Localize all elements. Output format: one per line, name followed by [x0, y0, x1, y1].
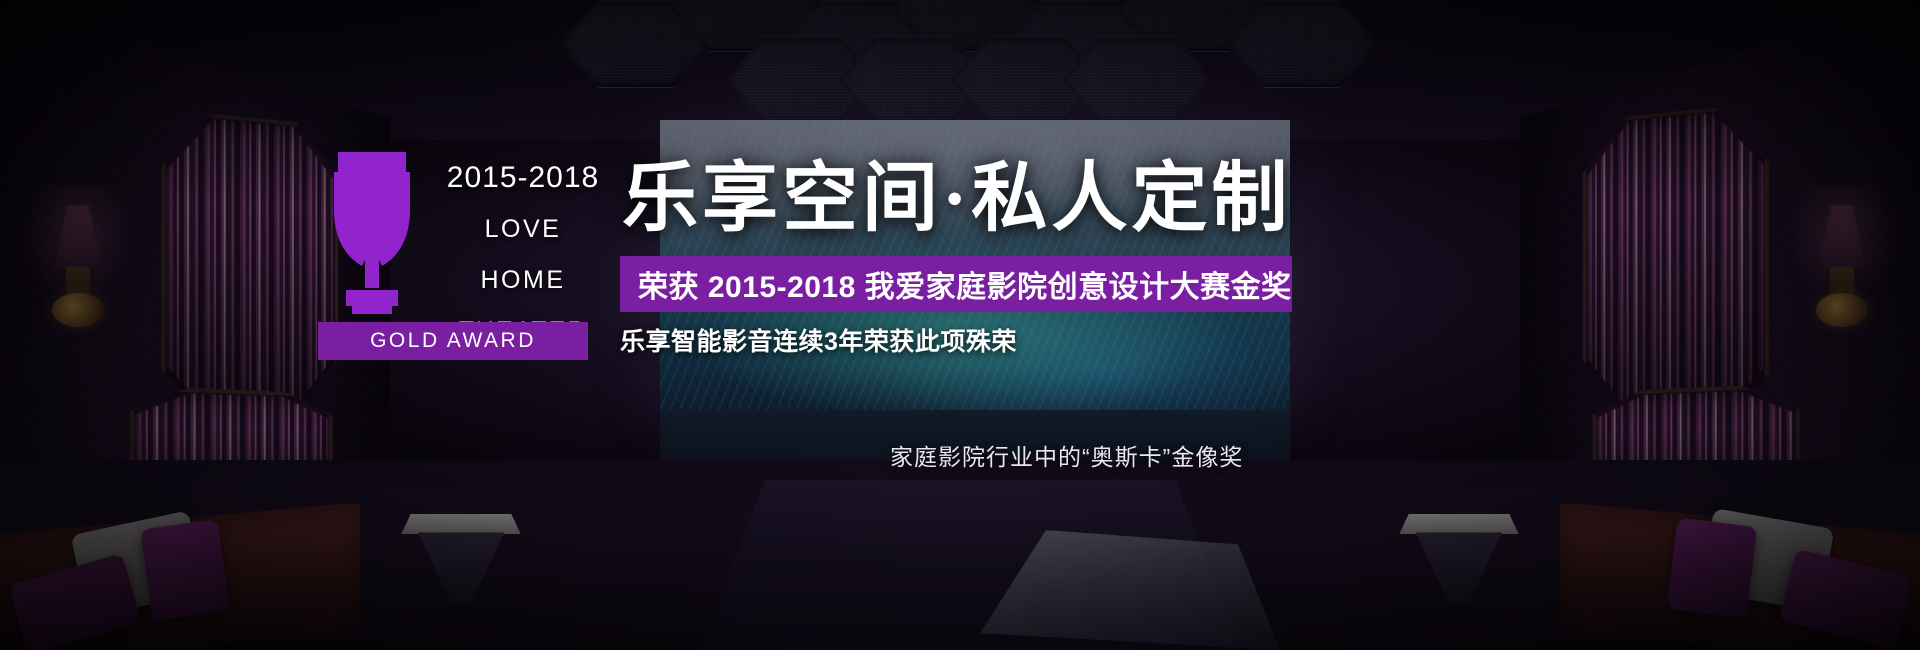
- award-banner-label: 荣获 2015-2018 我爱家庭影院创意设计大赛金奖: [620, 262, 1292, 306]
- award-text-block: 2015-2018 LOVE HOME THEATER: [443, 163, 603, 344]
- subtitle-text: 乐享智能影音连续3年荣获此项殊荣: [620, 322, 1017, 358]
- banner-content: 2015-2018 LOVE HOME THEATER GOLD AWARD 乐…: [0, 0, 1920, 650]
- award-banner-bar: 荣获 2015-2018 我爱家庭影院创意设计大赛金奖: [620, 256, 1292, 312]
- award-line-love: LOVE: [443, 217, 603, 242]
- gold-award-badge: GOLD AWARD: [318, 322, 588, 360]
- page-title: 乐享空间·私人定制: [622, 158, 1291, 240]
- tagline-text: 家庭影院行业中的“奥斯卡”金像奖: [890, 438, 1243, 472]
- hero-banner: 2015-2018 LOVE HOME THEATER GOLD AWARD 乐…: [0, 0, 1920, 650]
- award-years: 2015-2018: [443, 163, 603, 193]
- gold-award-label: GOLD AWARD: [370, 329, 536, 353]
- trophy-icon: [312, 138, 432, 318]
- award-line-home: HOME: [443, 268, 603, 293]
